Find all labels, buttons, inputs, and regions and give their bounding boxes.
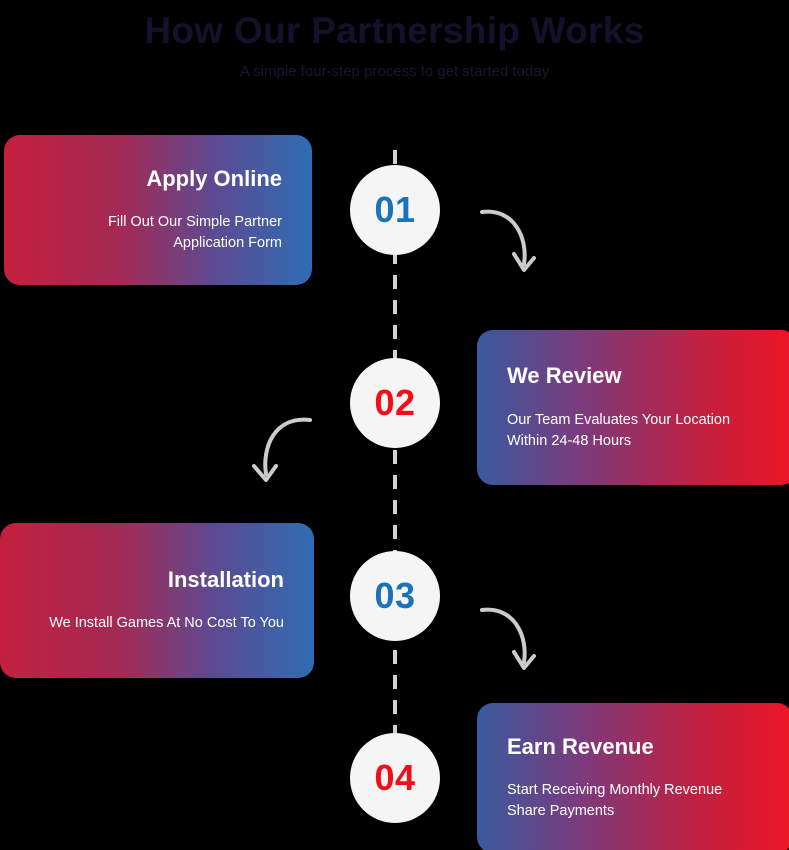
- step-card-we-review[interactable]: We Review Our Team Evaluates Your Locati…: [477, 330, 789, 485]
- curved-arrow-left-down-icon: [240, 400, 330, 500]
- step-card-apply-online[interactable]: Apply Online Fill Out Our Simple Partner…: [4, 135, 312, 285]
- step-number-label: 02: [374, 382, 415, 424]
- step-card-description: We Install Games At No Cost To You: [30, 613, 284, 634]
- step-card-title: Installation: [30, 567, 284, 593]
- curved-arrow-right-down-icon: [470, 190, 550, 290]
- step-card-title: We Review: [507, 363, 767, 389]
- step-card-description: Our Team Evaluates Your Location Within …: [507, 410, 767, 452]
- step-number-label: 03: [374, 575, 415, 617]
- step-number-label: 01: [374, 189, 415, 231]
- step-card-description: Start Receiving Monthly Revenue Share Pa…: [507, 780, 763, 822]
- step-card-title: Earn Revenue: [507, 734, 763, 760]
- step-number-label: 04: [374, 757, 415, 799]
- step-card-installation[interactable]: Installation We Install Games At No Cost…: [0, 523, 314, 678]
- page-subtitle: A simple four-step process to get starte…: [0, 62, 789, 82]
- header: How Our Partnership Works A simple four-…: [0, 8, 789, 82]
- step-number-badge-02[interactable]: 02: [350, 358, 440, 448]
- step-card-earn-revenue[interactable]: Earn Revenue Start Receiving Monthly Rev…: [477, 703, 789, 850]
- curved-arrow-right-down-icon: [470, 588, 550, 688]
- step-number-badge-01[interactable]: 01: [350, 165, 440, 255]
- step-number-badge-04[interactable]: 04: [350, 733, 440, 823]
- step-card-title: Apply Online: [34, 166, 282, 192]
- step-number-badge-03[interactable]: 03: [350, 551, 440, 641]
- step-card-description: Fill Out Our Simple Partner Application …: [34, 212, 282, 254]
- page-title: How Our Partnership Works: [0, 8, 789, 54]
- infographic-canvas: How Our Partnership Works A simple four-…: [0, 0, 789, 850]
